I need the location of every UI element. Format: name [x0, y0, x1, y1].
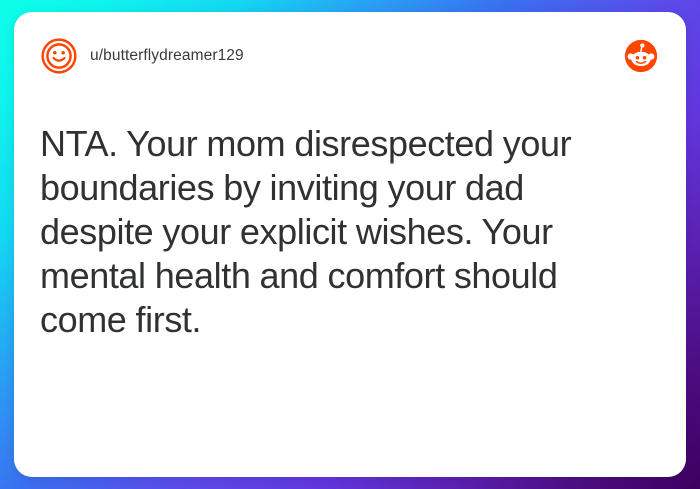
post-text: NTA. Your mom disrespected your boundari…: [40, 122, 646, 342]
reddit-snoo-icon[interactable]: [624, 39, 658, 73]
post-card: u/butterflydreamer129 NTA. Your mom: [14, 12, 686, 477]
author-block[interactable]: u/butterflydreamer129: [40, 37, 624, 75]
smiley-face-icon: [40, 37, 78, 75]
post-body: NTA. Your mom disrespected your boundari…: [40, 122, 660, 342]
author-name: u/butterflydreamer129: [90, 47, 244, 66]
quote-card-stage: u/butterflydreamer129 NTA. Your mom: [0, 0, 700, 489]
card-header: u/butterflydreamer129: [40, 34, 660, 78]
